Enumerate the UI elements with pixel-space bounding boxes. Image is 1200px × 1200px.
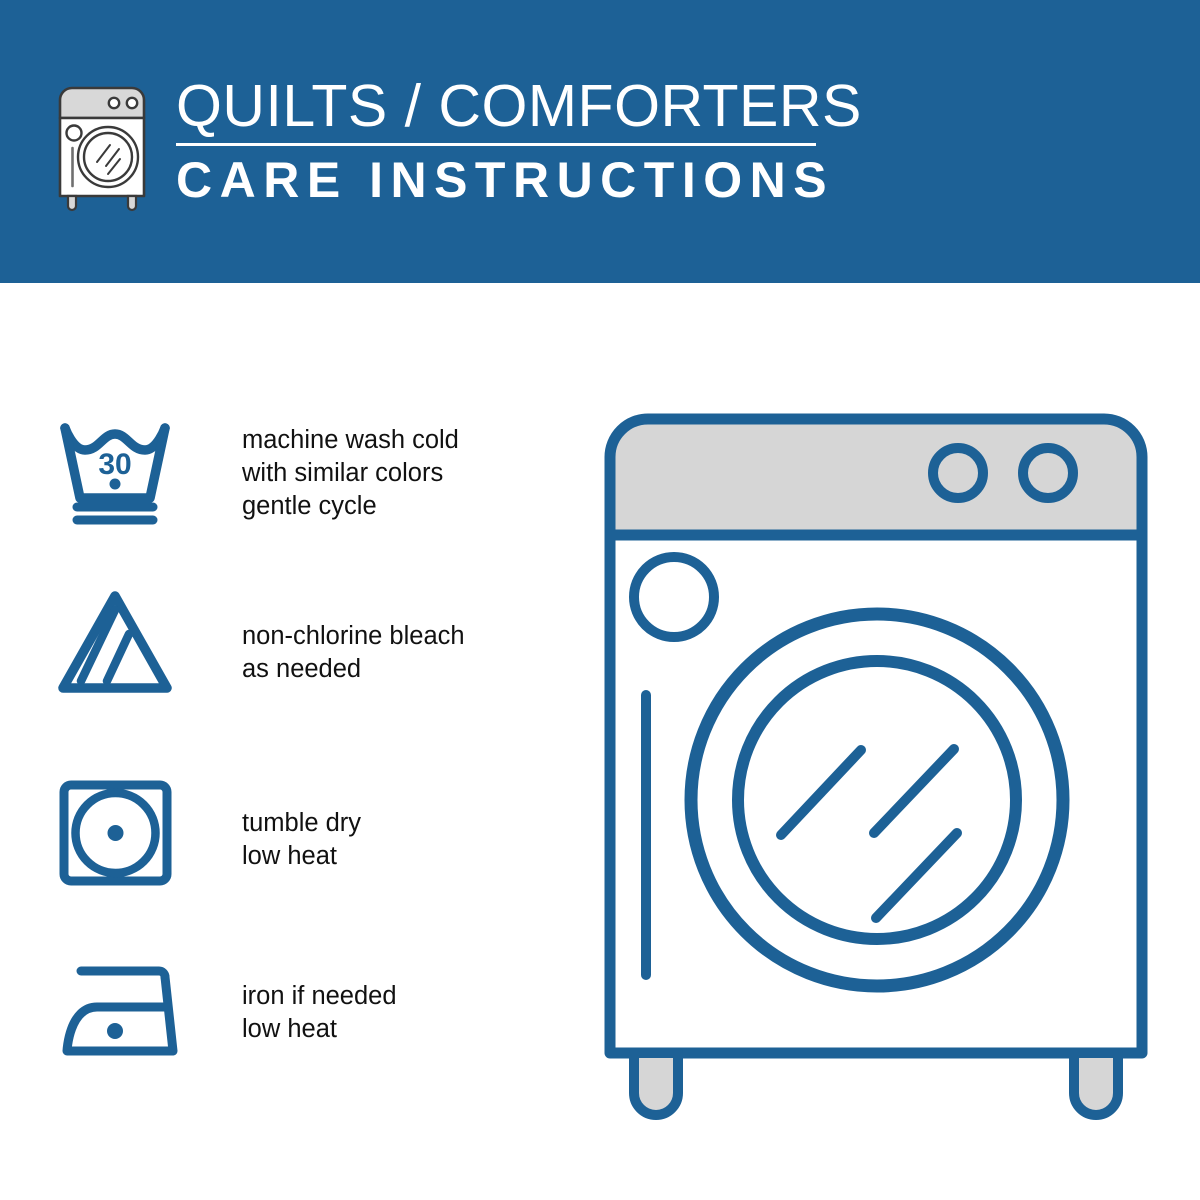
control-knob-right xyxy=(1023,448,1073,498)
non-chlorine-bleach-triangle-icon xyxy=(55,588,205,700)
care-instruction-list: 30 machine wash cold with similar colors… xyxy=(0,283,560,1200)
wash-temperature-value: 30 xyxy=(98,448,131,481)
control-knob-left xyxy=(933,448,983,498)
care-label-iron: iron if needed low heat xyxy=(242,955,397,1046)
page-subtitle: CARE INSTRUCTIONS xyxy=(176,152,862,208)
header-title-block: QUILTS / COMFORTERS CARE INSTRUCTIONS xyxy=(176,72,862,208)
title-divider xyxy=(176,143,816,146)
washer-leg-right xyxy=(1074,1053,1118,1115)
page-title: QUILTS / COMFORTERS xyxy=(176,74,862,138)
indicator-light xyxy=(634,557,714,637)
front-load-washing-machine-illustration xyxy=(596,405,1156,1115)
care-row-iron: iron if needed low heat xyxy=(0,955,540,1067)
washer-leg-left xyxy=(634,1053,678,1115)
wash-tub-30-gentle-icon: 30 xyxy=(55,416,205,528)
care-row-bleach: non-chlorine bleach as needed xyxy=(0,588,540,700)
care-label-machine-wash: machine wash cold with similar colors ge… xyxy=(242,416,459,523)
washing-machine-icon xyxy=(50,78,154,213)
tumble-dry-low-icon xyxy=(55,777,205,889)
care-row-tumble-dry: tumble dry low heat xyxy=(0,777,540,889)
care-label-tumble-dry: tumble dry low heat xyxy=(242,777,361,873)
iron-low-heat-icon xyxy=(55,955,205,1067)
care-instructions-page: QUILTS / COMFORTERS CARE INSTRUCTIONS 30 xyxy=(0,0,1200,1200)
care-label-bleach: non-chlorine bleach as needed xyxy=(242,588,465,686)
care-row-machine-wash: 30 machine wash cold with similar colors… xyxy=(0,416,540,528)
page-header: QUILTS / COMFORTERS CARE INSTRUCTIONS xyxy=(0,0,1200,283)
header-content: QUILTS / COMFORTERS CARE INSTRUCTIONS xyxy=(50,72,862,213)
door-glass xyxy=(738,661,1016,939)
